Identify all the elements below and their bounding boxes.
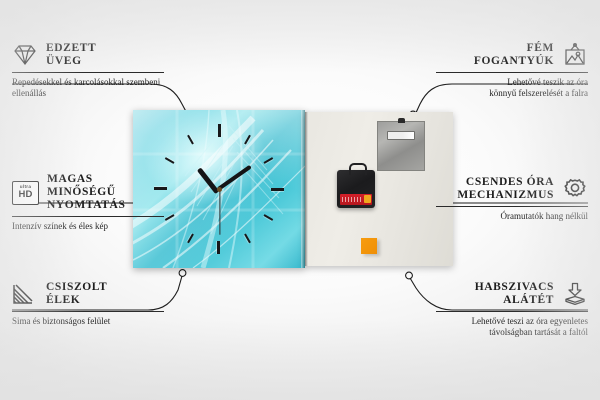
- feature-title: MAGAS MINŐSÉGŰ NYOMTATÁS: [47, 173, 164, 212]
- beveled-edge-icon: [12, 282, 38, 306]
- feature-title: EDZETT ÜVEG: [46, 42, 96, 68]
- connector-dot-6: [406, 272, 413, 279]
- feature-metal-hangers: FÉM FOGANTYÚK Lehetővé teszik az óra kö: [436, 42, 588, 99]
- feature-title: FÉM FOGANTYÚK: [474, 42, 554, 68]
- metal-hanger-plate: [377, 121, 425, 171]
- feature-tempered-glass: EDZETT ÜVEG Repedésekkel és karcolásokka…: [12, 42, 164, 99]
- feature-description: Lehetővé teszi az óra egyenletes távolsá…: [436, 316, 588, 338]
- feature-description: Repedésekkel és karcolásokkal szembeni e…: [12, 77, 164, 99]
- feature-polished-edges: CSISZOLT ÉLEK Sima és biztonságos felüle…: [12, 281, 164, 327]
- divider: [12, 72, 164, 73]
- feature-silent-mechanism: CSENDES ÓRA MECHANIZMUS Óramutatók hang …: [436, 176, 588, 222]
- diamond-icon: [12, 43, 38, 67]
- feature-title: CSENDES ÓRA MECHANIZMUS: [457, 176, 554, 202]
- clock-center-cap: [217, 187, 222, 192]
- hanger-keyhole-slot: [387, 131, 415, 140]
- feature-description: Intenzív színek és éles kép: [12, 221, 164, 232]
- product-image: [133, 110, 453, 270]
- battery-label-stripes: [342, 197, 362, 202]
- picture-hanger-icon: [562, 43, 588, 67]
- divider: [436, 72, 588, 73]
- infographic-canvas: EDZETT ÜVEG Repedésekkel és karcolásokka…: [0, 0, 600, 400]
- second-hand: [219, 190, 220, 235]
- feature-title: HABSZIVACS ALÁTÉT: [475, 281, 554, 307]
- foam-pad-icon: [562, 282, 588, 306]
- hanger-nail: [398, 118, 405, 123]
- feature-high-quality-print: ultra HD MAGAS MINŐSÉGŰ NYOMTATÁS Intenz…: [12, 173, 164, 232]
- clock-back-panel: [305, 112, 453, 266]
- feature-foam-pad: HABSZIVACS ALÁTÉT Lehetővé teszi az óra …: [436, 281, 588, 338]
- feature-description: Óramutatók hang nélkül: [436, 211, 588, 222]
- feature-description: Lehetővé teszik az óra könnyű felszerelé…: [436, 77, 588, 99]
- ultra-hd-icon-main: HD: [18, 190, 32, 200]
- foam-spacer-pad: [361, 238, 377, 254]
- feature-title: CSISZOLT ÉLEK: [46, 281, 107, 307]
- feature-description: Sima és biztonságos felület: [12, 316, 164, 327]
- divider: [436, 311, 588, 312]
- clock-mechanism: [337, 170, 375, 208]
- divider: [436, 206, 588, 207]
- battery-plus-terminal: [364, 195, 371, 203]
- connector-dot-3: [179, 270, 186, 277]
- panel-seam: [305, 112, 308, 266]
- ultra-hd-icon: ultra HD: [12, 181, 39, 205]
- divider: [12, 216, 164, 217]
- gear-icon: [562, 177, 588, 201]
- mechanism-hook: [349, 163, 367, 175]
- battery: [340, 194, 372, 205]
- minute-hand: [217, 165, 252, 191]
- divider: [12, 311, 164, 312]
